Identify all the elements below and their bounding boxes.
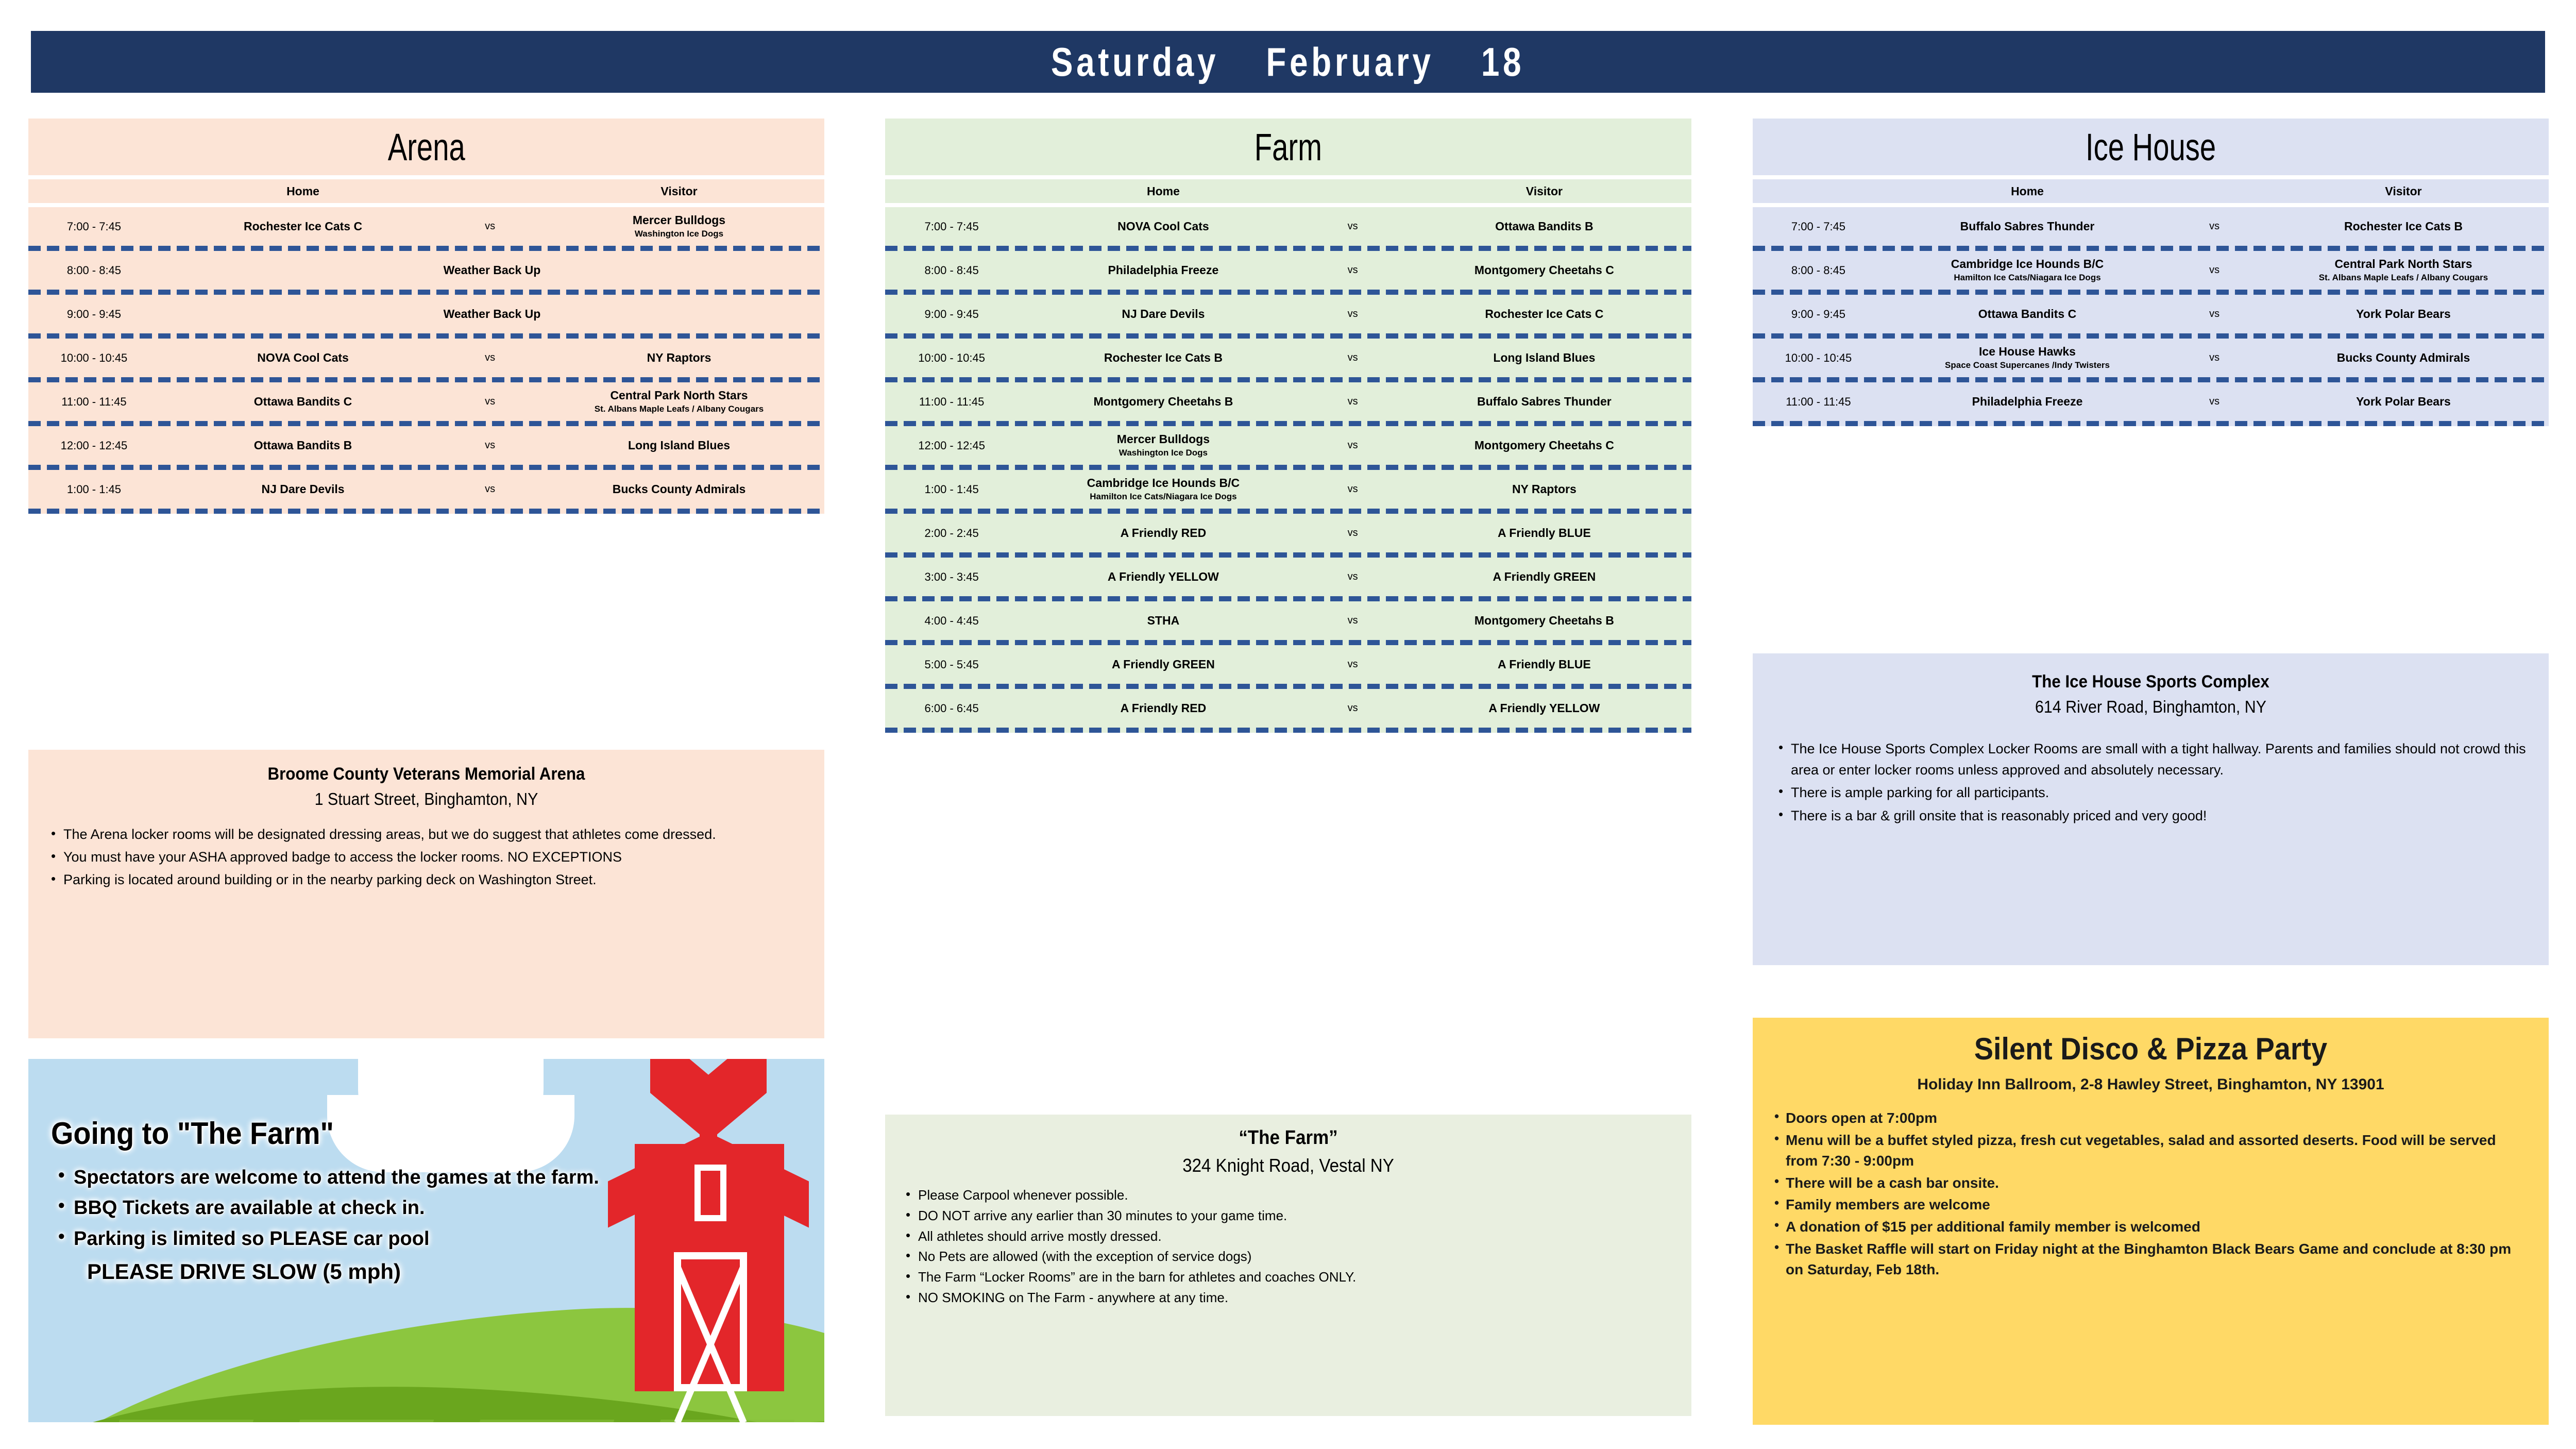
cell-vs: vs [446,440,534,451]
list-item: The Ice House Sports Complex Locker Room… [1773,738,2528,780]
cell-visitor-subtitle: Washington Ice Dogs [536,228,822,240]
cell-time: 2:00 - 2:45 [885,527,1018,540]
list-item: A donation of $15 per additional family … [1770,1217,2531,1238]
row-divider [1753,421,2549,426]
table-row: 12:00 - 12:45Mercer BulldogsWashington I… [885,426,1691,465]
list-item: All athletes should arrive mostly dresse… [901,1227,1676,1246]
row-divider [28,465,824,470]
table-row: 9:00 - 9:45Ottawa Bandits CvsYork Polar … [1753,295,2549,333]
list-item: The Farm “Locker Rooms” are in the barn … [901,1268,1676,1287]
cell-home-team: Montgomery Cheetahs B [1018,394,1308,410]
cell-time: 3:00 - 3:45 [885,570,1018,584]
row-divider [28,377,824,382]
cell-vs: vs [446,483,534,495]
cell-home-team: Buffalo Sabres Thunder [1884,219,2171,234]
col-header-visitor: Visitor [1397,184,1691,198]
cell-visitor-team: Ottawa Bandits B [1397,219,1691,234]
table-header-farm: Home Visitor [885,179,1691,203]
table-row: 3:00 - 3:45A Friendly YELLOWvsA Friendly… [885,558,1691,596]
cell-visitor-team: Central Park North StarsSt. Albans Maple… [534,388,824,415]
barn-door-icon [674,1252,747,1391]
list-item: The Arena locker rooms will be designate… [46,824,807,845]
venue-info-bullets: The Arena locker rooms will be designate… [46,824,807,890]
cell-home-team: NOVA Cool Cats [1018,219,1308,234]
venue-info-title: “The Farm” [931,1126,1645,1151]
cell-home-subtitle: Hamilton Ice Cats/Niagara Ice Dogs [1020,491,1306,503]
cell-visitor-team: Rochester Ice Cats B [2258,219,2549,234]
schedule-table-farm: 7:00 - 7:45NOVA Cool CatsvsOttawa Bandit… [885,207,1691,733]
list-item: Doors open at 7:00pm [1770,1108,2531,1129]
cell-visitor-team: A Friendly GREEN [1397,569,1691,585]
schedule-table-ice-house: 7:00 - 7:45Buffalo Sabres ThundervsRoche… [1753,207,2549,426]
cell-visitor-team: NY Raptors [1397,482,1691,497]
cell-time: 5:00 - 5:45 [885,658,1018,671]
cell-visitor-subtitle: St. Albans Maple Leafs / Albany Cougars [536,403,822,415]
list-item: The Basket Raffle will start on Friday n… [1770,1239,2531,1280]
row-divider [28,509,824,514]
cell-time: 8:00 - 8:45 [885,264,1018,277]
table-row: 12:00 - 12:45Ottawa Bandits BvsLong Isla… [28,426,824,465]
farm-promo-bullets: Spectators are welcome to attend the gam… [51,1165,607,1252]
cell-note: Weather Back Up [160,263,824,277]
list-item: Spectators are welcome to attend the gam… [51,1165,607,1191]
cell-time: 10:00 - 10:45 [28,351,160,365]
col-header-visitor: Visitor [2258,184,2549,198]
cell-time: 8:00 - 8:45 [1753,264,1884,277]
cell-home-team: Rochester Ice Cats C [160,219,446,234]
venue-column-farm: Farm Home Visitor 7:00 - 7:45NOVA Cool C… [885,119,1691,733]
cell-visitor-subtitle: St. Albans Maple Leafs / Albany Cougars [2260,272,2547,284]
list-item: DO NOT arrive any earlier than 30 minute… [901,1206,1676,1226]
cell-vs: vs [2171,352,2258,364]
cell-visitor-team: York Polar Bears [2258,394,2549,410]
cell-note: Weather Back Up [160,307,824,321]
cell-vs: vs [446,352,534,364]
cell-visitor-team: Rochester Ice Cats C [1397,307,1691,322]
table-header-ice-house: Home Visitor [1753,179,2549,203]
table-row: 4:00 - 4:45STHAvsMontgomery Cheetahs B [885,601,1691,640]
row-divider [885,552,1691,558]
list-item: There is a bar & grill onsite that is re… [1773,805,2528,827]
cell-time: 12:00 - 12:45 [885,439,1018,452]
cell-home-team: A Friendly YELLOW [1018,569,1308,585]
cell-time: 10:00 - 10:45 [885,351,1018,365]
cell-home-team: Ice House HawksSpace Coast Supercanes /I… [1884,344,2171,372]
cell-visitor-team: Montgomery Cheetahs B [1397,613,1691,629]
cell-visitor-team: Long Island Blues [534,438,824,453]
table-row: 1:00 - 1:45NJ Dare DevilsvsBucks County … [28,470,824,509]
cell-home-subtitle: Hamilton Ice Cats/Niagara Ice Dogs [1886,272,2168,284]
cell-visitor-team: York Polar Bears [2258,307,2549,322]
cell-time: 10:00 - 10:45 [1753,351,1884,365]
venue-info-farm: “The Farm” 324 Knight Road, Vestal NY Pl… [885,1115,1691,1416]
cell-home-team: A Friendly RED [1018,526,1308,541]
cell-visitor-team: Long Island Blues [1397,350,1691,366]
cell-vs: vs [1309,352,1397,364]
row-divider [885,290,1691,295]
schedule-table-arena: 7:00 - 7:45Rochester Ice Cats CvsMercer … [28,207,824,514]
row-divider [1753,377,2549,382]
table-row: 9:00 - 9:45Weather Back Up [28,295,824,333]
cell-visitor-team: A Friendly BLUE [1397,526,1691,541]
list-item: There will be a cash bar onsite. [1770,1173,2531,1194]
cell-time: 11:00 - 11:45 [885,395,1018,409]
row-divider [885,377,1691,382]
col-header-home: Home [1884,184,2171,198]
cell-visitor-team: Bucks County Admirals [2258,350,2549,366]
col-header-home: Home [160,184,446,198]
cell-vs: vs [1309,702,1397,714]
cell-vs: vs [1309,308,1397,320]
cell-home-team: Ottawa Bandits C [1884,307,2171,322]
table-row: 11:00 - 11:45Montgomery Cheetahs BvsBuff… [885,382,1691,421]
cell-time: 11:00 - 11:45 [1753,395,1884,409]
cell-time: 9:00 - 9:45 [885,308,1018,321]
cell-vs: vs [2171,396,2258,408]
table-row: 2:00 - 2:45A Friendly REDvsA Friendly BL… [885,514,1691,552]
table-row: 8:00 - 8:45Philadelphia FreezevsMontgome… [885,251,1691,290]
cell-time: 9:00 - 9:45 [28,308,160,321]
venue-info-bullets: Please Carpool whenever possible.DO NOT … [901,1186,1676,1307]
list-item: Parking is located around building or in… [46,870,807,890]
venue-title-farm: Farm [885,119,1691,175]
cell-home-team: Cambridge Ice Hounds B/CHamilton Ice Cat… [1884,257,2171,284]
row-divider [885,246,1691,251]
cell-home-team: Ottawa Bandits C [160,394,446,410]
cell-visitor-team: A Friendly BLUE [1397,657,1691,672]
cell-home-team: Philadelphia Freeze [1884,394,2171,410]
venue-info-title: Broome County Veterans Memorial Arena [76,763,776,785]
list-item: BBQ Tickets are available at check in. [51,1195,607,1221]
silent-disco-address: Holiday Inn Ballroom, 2-8 Hawley Street,… [1770,1074,2531,1094]
cell-home-team: NJ Dare Devils [1018,307,1308,322]
row-divider [28,421,824,426]
row-divider [28,333,824,339]
farm-promo-card: Going to "The Farm" Spectators are welco… [28,1059,824,1422]
table-row: 10:00 - 10:45Ice House HawksSpace Coast … [1753,339,2549,377]
table-row: 11:00 - 11:45Philadelphia FreezevsYork P… [1753,382,2549,421]
cell-vs: vs [1309,396,1397,408]
cell-visitor-team: Bucks County Admirals [534,482,824,497]
cell-time: 7:00 - 7:45 [28,220,160,233]
col-header-home: Home [1018,184,1308,198]
table-row: 7:00 - 7:45Rochester Ice Cats CvsMercer … [28,207,824,246]
row-divider [1753,290,2549,295]
barn-window-icon [694,1165,726,1221]
table-row: 7:00 - 7:45Buffalo Sabres ThundervsRoche… [1753,207,2549,246]
table-row: 7:00 - 7:45NOVA Cool CatsvsOttawa Bandit… [885,207,1691,246]
cell-time: 7:00 - 7:45 [1753,220,1884,233]
col-header-visitor: Visitor [534,184,824,198]
cell-vs: vs [2171,264,2258,276]
silent-disco-title: Silent Disco & Pizza Party [1797,1032,2505,1066]
cell-time: 12:00 - 12:45 [28,439,160,452]
venue-info-address: 1 Stuart Street, Binghamton, NY [76,788,776,811]
cell-vs: vs [2171,221,2258,232]
cell-home-subtitle: Washington Ice Dogs [1020,447,1306,459]
table-row: 8:00 - 8:45Cambridge Ice Hounds B/CHamil… [1753,251,2549,290]
list-item: Family members are welcome [1770,1194,2531,1216]
list-item: Parking is limited so PLEASE car pool [51,1226,607,1252]
row-divider [885,465,1691,470]
cell-home-team: Cambridge Ice Hounds B/CHamilton Ice Cat… [1018,476,1308,503]
table-row: 9:00 - 9:45NJ Dare DevilsvsRochester Ice… [885,295,1691,333]
cell-vs: vs [1309,264,1397,276]
row-divider [885,509,1691,514]
farm-promo-title: Going to "The Farm" [51,1116,568,1151]
table-row: 10:00 - 10:45Rochester Ice Cats BvsLong … [885,339,1691,377]
date-banner: Saturday February 18 [31,31,2545,93]
table-row: 8:00 - 8:45Weather Back Up [28,251,824,290]
table-row: 6:00 - 6:45A Friendly REDvsA Friendly YE… [885,689,1691,728]
venue-info-address: 324 Knight Road, Vestal NY [931,1154,1645,1178]
list-item: You must have your ASHA approved badge t… [46,847,807,868]
cell-home-subtitle: Space Coast Supercanes /Indy Twisters [1886,360,2168,372]
cell-vs: vs [1309,440,1397,451]
cell-time: 4:00 - 4:45 [885,614,1018,628]
venue-info-bullets: The Ice House Sports Complex Locker Room… [1773,738,2528,826]
row-divider [885,421,1691,426]
cell-time: 7:00 - 7:45 [885,220,1018,233]
silent-disco-bullets: Doors open at 7:00pmMenu will be a buffe… [1770,1108,2531,1280]
venue-info-address: 614 River Road, Binghamton, NY [1804,696,2498,718]
cell-vs: vs [2171,308,2258,320]
cell-time: 11:00 - 11:45 [28,395,160,409]
cell-time: 1:00 - 1:45 [28,483,160,496]
cell-vs: vs [1309,571,1397,583]
cell-visitor-team: Montgomery Cheetahs C [1397,263,1691,278]
venue-column-ice-house: Ice House Home Visitor 7:00 - 7:45Buffal… [1753,119,2549,426]
cell-vs: vs [1309,659,1397,670]
row-divider [885,684,1691,689]
cell-time: 8:00 - 8:45 [28,264,160,277]
cell-visitor-team: Mercer BulldogsWashington Ice Dogs [534,213,824,240]
row-divider [885,728,1691,733]
venue-title-ice-house: Ice House [1753,119,2549,175]
cell-time: 9:00 - 9:45 [1753,308,1884,321]
row-divider [885,333,1691,339]
list-item: Please Carpool whenever possible. [901,1186,1676,1205]
cell-vs: vs [1309,483,1397,495]
cell-home-team: NJ Dare Devils [160,482,446,497]
row-divider [28,290,824,295]
row-divider [1753,333,2549,339]
table-row: 11:00 - 11:45Ottawa Bandits CvsCentral P… [28,382,824,421]
cell-home-team: Ottawa Bandits B [160,438,446,453]
farm-promo-footer: PLEASE DRIVE SLOW (5 mph) [87,1259,607,1284]
table-row: 5:00 - 5:45A Friendly GREENvsA Friendly … [885,645,1691,684]
venue-column-arena: Arena Home Visitor 7:00 - 7:45Rochester … [28,119,824,514]
cell-visitor-team: Buffalo Sabres Thunder [1397,394,1691,410]
barn-icon [608,1082,809,1391]
list-item: Menu will be a buffet styled pizza, fres… [1770,1130,2531,1172]
page-title: Saturday February 18 [1051,39,1524,86]
row-divider [28,246,824,251]
cell-time: 6:00 - 6:45 [885,702,1018,715]
table-header-arena: Home Visitor [28,179,824,203]
venue-info-title: The Ice House Sports Complex [1804,671,2498,693]
cell-home-team: Philadelphia Freeze [1018,263,1308,278]
venue-info-ice-house: The Ice House Sports Complex 614 River R… [1753,653,2549,965]
venue-title-arena: Arena [28,119,824,175]
list-item: NO SMOKING on The Farm - anywhere at any… [901,1288,1676,1308]
row-divider [1753,246,2549,251]
cell-visitor-team: Central Park North StarsSt. Albans Maple… [2258,257,2549,284]
cell-vs: vs [446,396,534,408]
cell-home-team: NOVA Cool Cats [160,350,446,366]
cell-vs: vs [446,221,534,232]
cell-vs: vs [1309,615,1397,627]
silent-disco-card: Silent Disco & Pizza Party Holiday Inn B… [1753,1018,2549,1425]
cell-time: 1:00 - 1:45 [885,483,1018,496]
farm-promo-content: Going to "The Farm" Spectators are welco… [51,1116,607,1284]
row-divider [885,640,1691,645]
cell-visitor-team: Montgomery Cheetahs C [1397,438,1691,453]
row-divider [885,596,1691,601]
cell-vs: vs [1309,221,1397,232]
schedule-page: Saturday February 18 Arena Home Visitor … [0,0,2576,1449]
table-row: 1:00 - 1:45Cambridge Ice Hounds B/CHamil… [885,470,1691,509]
cell-home-team: Mercer BulldogsWashington Ice Dogs [1018,432,1308,459]
cell-home-team: A Friendly GREEN [1018,657,1308,672]
cell-vs: vs [1309,527,1397,539]
cell-home-team: A Friendly RED [1018,701,1308,716]
cell-home-team: STHA [1018,613,1308,629]
list-item: There is ample parking for all participa… [1773,782,2528,803]
cell-visitor-team: A Friendly YELLOW [1397,701,1691,716]
cell-home-team: Rochester Ice Cats B [1018,350,1308,366]
cell-visitor-team: NY Raptors [534,350,824,366]
venue-info-arena: Broome County Veterans Memorial Arena 1 … [28,750,824,1038]
table-row: 10:00 - 10:45NOVA Cool CatsvsNY Raptors [28,339,824,377]
list-item: No Pets are allowed (with the exception … [901,1247,1676,1267]
